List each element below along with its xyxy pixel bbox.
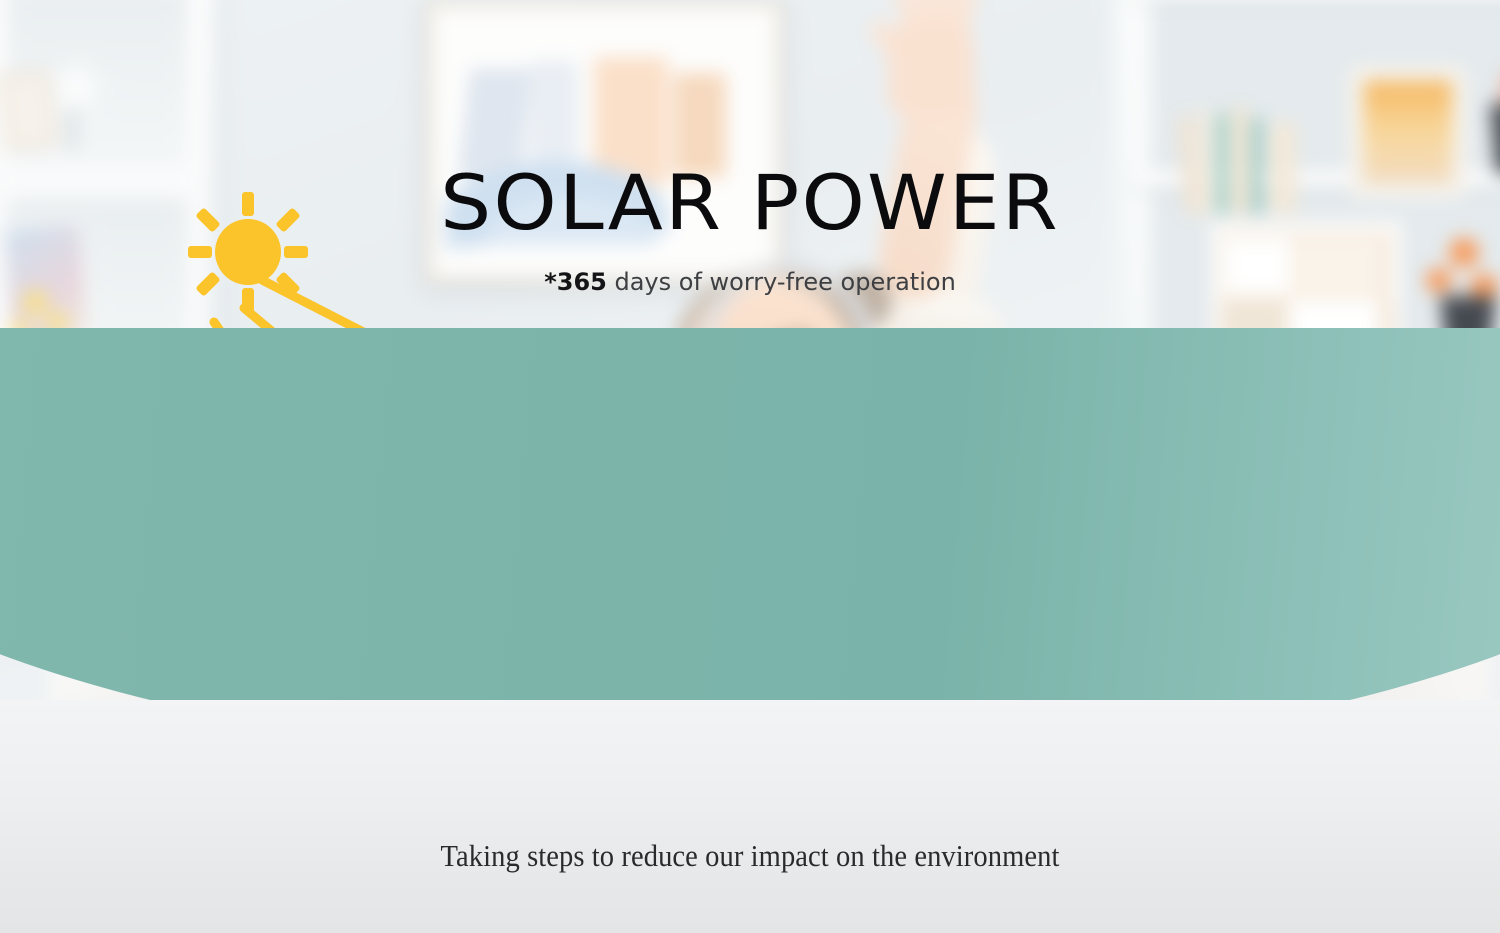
page-title: SOLAR POWER [0,158,1500,247]
subtitle-emphasis: *365 [544,268,607,296]
subtitle-text: days of worry-free operation [607,268,956,296]
raised-hand [888,20,974,116]
footer-caption: Taking steps to reduce our impact on the… [60,838,1440,874]
solar-power-banner: Taking steps to reduce our impact on the… [0,0,1500,933]
footer-band [0,700,1500,933]
star-ornament-stand [71,110,75,150]
page-subtitle: *365 days of worry-free operation [0,268,1500,296]
small-picture-frame [0,69,58,150]
